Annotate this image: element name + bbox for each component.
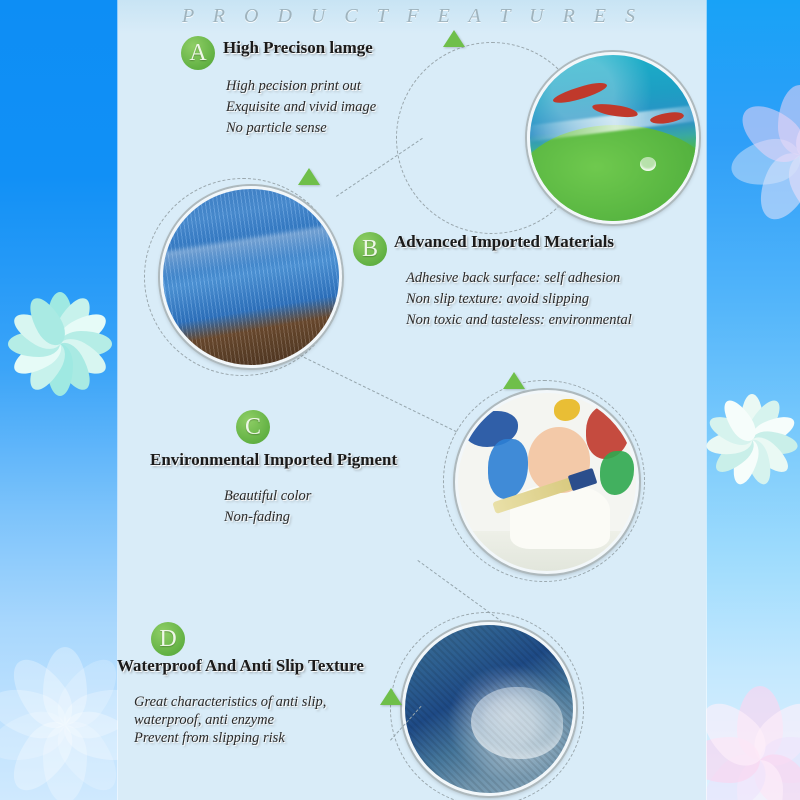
koi-fish-shape bbox=[551, 80, 608, 107]
feature-image-a bbox=[527, 52, 699, 224]
pointer-arrow-b bbox=[298, 168, 320, 185]
feature-line-a-1: High pecision print out bbox=[226, 76, 361, 97]
feature-line-a-2: Exquisite and vivid image bbox=[226, 97, 376, 118]
pointer-arrow-a bbox=[443, 30, 465, 47]
paint-splatter bbox=[600, 451, 634, 495]
feature-line-c-1: Beautiful color bbox=[224, 486, 311, 507]
page-title: P R O D U C T F E A T U R E S bbox=[118, 5, 706, 28]
lily-pad-shape bbox=[527, 125, 699, 224]
feature-image-c bbox=[455, 390, 639, 574]
pointer-arrow-d bbox=[380, 688, 402, 705]
feature-line-a-3: No particle sense bbox=[226, 118, 327, 139]
feature-line-d-3: Prevent from slipping risk bbox=[134, 728, 285, 749]
feature-heading-a: High Precison lamge bbox=[223, 38, 373, 58]
feature-badge-c: C bbox=[236, 410, 270, 444]
feature-image-d bbox=[402, 622, 576, 796]
fabric-texture bbox=[163, 189, 339, 365]
flower-ornament bbox=[704, 392, 800, 488]
feature-line-b-1: Adhesive back surface: self adhesion bbox=[406, 268, 620, 289]
feature-line-b-3: Non toxic and tasteless: environmental bbox=[406, 310, 632, 331]
left-decorative-border bbox=[0, 0, 130, 800]
infographic-canvas: P R O D U C T F E A T U R E S A High Pre… bbox=[0, 0, 800, 800]
feature-badge-d: D bbox=[151, 622, 185, 656]
feature-line-b-2: Non slip texture: avoid slipping bbox=[406, 289, 589, 310]
feature-heading-b: Advanced Imported Materials bbox=[394, 232, 614, 252]
feature-heading-c: Environmental Imported Pigment bbox=[150, 450, 397, 470]
water-droplet-shape bbox=[471, 687, 563, 759]
content-panel: P R O D U C T F E A T U R E S A High Pre… bbox=[118, 0, 706, 800]
flower-ornament bbox=[6, 290, 114, 398]
paint-splatter bbox=[488, 439, 528, 499]
feature-badge-b: B bbox=[353, 232, 387, 266]
pointer-arrow-c bbox=[503, 372, 525, 389]
flower-ornament bbox=[690, 690, 800, 800]
water-drop-shape bbox=[640, 157, 656, 171]
paint-splatter bbox=[554, 399, 580, 421]
feature-line-c-2: Non-fading bbox=[224, 507, 290, 528]
feature-badge-a: A bbox=[181, 36, 215, 70]
flower-ornament bbox=[735, 90, 800, 220]
feature-heading-d: Waterproof And Anti Slip Texture bbox=[117, 656, 364, 676]
feature-image-b bbox=[160, 186, 342, 368]
